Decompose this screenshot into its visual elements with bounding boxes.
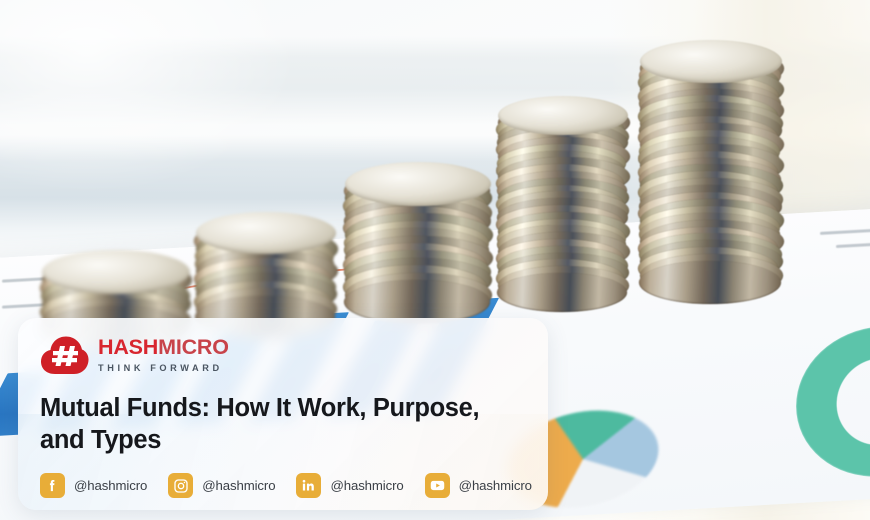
logo-word: HASHMICRO [98, 337, 229, 359]
logo-wordmark: HASHMICRO THINK FORWARD [98, 337, 229, 373]
social-handle: @hashmicro [459, 478, 532, 493]
coin [497, 273, 627, 312]
coin-top-face [42, 250, 190, 294]
instagram-icon [168, 473, 193, 498]
coin-top-face [640, 40, 782, 83]
social-link-facebook[interactable]: @hashmicro [40, 473, 147, 498]
social-media-banner: HASHMICRO THINK FORWARD Mutual Funds: Ho… [0, 0, 870, 520]
social-link-instagram[interactable]: @hashmicro [168, 473, 275, 498]
hashmicro-cloud-hash-logo [40, 335, 89, 375]
page-title: Mutual Funds: How It Work, Purpose, and … [40, 392, 520, 456]
youtube-icon [425, 473, 450, 498]
logo-word-micro: MICRO [158, 335, 229, 359]
coin-stack [498, 96, 628, 312]
sheet-text-line [820, 228, 870, 235]
coin-top-face [345, 162, 491, 206]
brand-logo[interactable]: HASHMICRO THINK FORWARD [40, 335, 526, 375]
social-handle: @hashmicro [330, 478, 403, 493]
logo-word-hash: HASH [98, 335, 158, 359]
social-link-youtube[interactable]: @hashmicro [425, 473, 532, 498]
content-card: HASHMICRO THINK FORWARD Mutual Funds: Ho… [18, 318, 548, 510]
coin-top-face [498, 96, 628, 135]
linkedin-icon [296, 473, 321, 498]
coin [639, 261, 781, 304]
coin-stack [640, 41, 782, 304]
social-links-row: @hashmicro @hashmicro @hashmicro @hashmi… [40, 473, 526, 498]
logo-tagline: THINK FORWARD [98, 364, 229, 373]
facebook-icon [40, 473, 65, 498]
social-handle: @hashmicro [202, 478, 275, 493]
coin-stack [345, 162, 491, 324]
social-link-linkedin[interactable]: @hashmicro [296, 473, 403, 498]
social-handle: @hashmicro [74, 478, 147, 493]
